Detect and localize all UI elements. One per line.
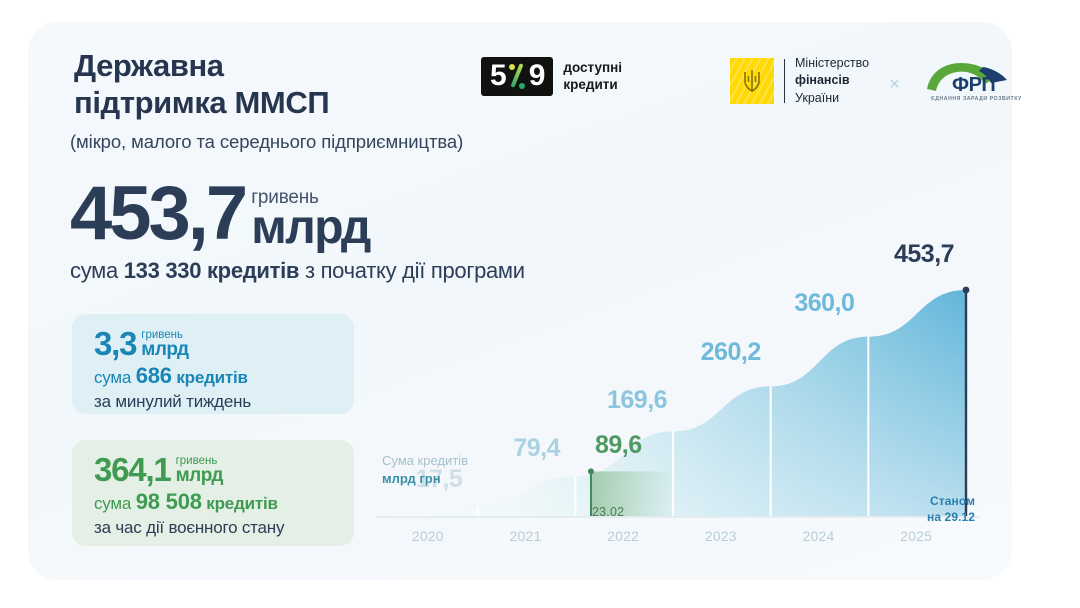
- stat-card-martial-law-unit-big: млрд: [176, 467, 223, 485]
- page-subtitle: (мікро, малого та середнього підприємниц…: [70, 131, 463, 153]
- stat-card-week-period: за минулий тиждень: [94, 392, 334, 412]
- chart-data-label-2022: 169,6: [607, 386, 667, 415]
- credit-growth-chart: 17,579,4169,6260,2360,0453,789,620202021…: [376, 268, 994, 556]
- as-of-line2: на 29.12: [927, 509, 975, 525]
- separator-cross-icon: ×: [889, 74, 900, 96]
- chart-x-label-2025: 2025: [900, 528, 932, 544]
- page-title: Державна підтримка ММСП: [74, 48, 329, 121]
- logo-579-digit-left: 5: [490, 61, 506, 91]
- chart-x-label-2022: 2022: [607, 528, 639, 544]
- minfin-line2: фінансів: [795, 72, 869, 89]
- page-title-line1: Державна: [74, 48, 329, 85]
- as-of-annotation: Станом на 29.12: [927, 493, 975, 525]
- hero-figure: 453,7 гривень млрд: [70, 183, 370, 245]
- stat-card-week-sum-count: 686: [136, 363, 172, 388]
- hero-value: 453,7: [70, 183, 245, 245]
- stat-card-martial-law-sum-suffix: кредитів: [202, 494, 278, 513]
- stat-card-martial-law-sum-prefix: сума: [94, 494, 136, 513]
- chart-data-label-war-start: 89,6: [595, 431, 642, 460]
- hero-unit: гривень млрд: [251, 188, 370, 247]
- chart-legend: Сума кредитів млрд грн: [382, 452, 468, 487]
- logo-579-digit-right: 9: [529, 61, 545, 91]
- minfin-line1: Міністерство: [795, 55, 869, 72]
- stat-card-week-unit: гривень млрд: [141, 329, 188, 359]
- chart-x-label-2024: 2024: [803, 528, 835, 544]
- chart-data-label-2025: 453,7: [894, 240, 954, 269]
- minfin-divider: [784, 59, 785, 103]
- chart-data-label-2021: 79,4: [513, 434, 560, 463]
- stat-card-martial-law-period: за час дії воєнного стану: [94, 518, 334, 538]
- chart-x-label-2021: 2021: [510, 528, 542, 544]
- minfin-line3: України: [795, 90, 869, 107]
- stat-card-week-unit-big: млрд: [141, 341, 188, 359]
- as-of-line1: Станом: [927, 493, 975, 509]
- stat-card-week: 3,3 гривень млрд сума 686 кредитів за ми…: [72, 314, 354, 414]
- logo-579-caption-line2: кредити: [563, 77, 622, 93]
- percent-icon: [508, 61, 527, 91]
- hero-summary-prefix: сума: [70, 258, 124, 283]
- stat-card-martial-law-sum: сума 98 508 кредитів: [94, 489, 334, 515]
- stat-card-martial-law-unit: гривень млрд: [176, 455, 223, 485]
- svg-text:ЄДНАННЯ ЗАРАДИ РОЗВИТКУ: ЄДНАННЯ ЗАРАДИ РОЗВИТКУ: [931, 96, 1022, 102]
- stat-card-martial-law-sum-count: 98 508: [136, 489, 202, 514]
- chart-legend-line1: Сума кредитів: [382, 452, 468, 470]
- stat-card-week-value: 3,3: [94, 330, 136, 358]
- svg-text:ФРП: ФРП: [952, 74, 995, 96]
- logo-minfin: Міністерство фінансів України: [730, 55, 869, 107]
- logo-frp: ФРП ЄДНАННЯ ЗАРАДИ РОЗВИТКУ: [925, 58, 1025, 102]
- stat-card-martial-law: 364,1 гривень млрд сума 98 508 кредитів …: [72, 440, 354, 546]
- minfin-text: Міністерство фінансів України: [795, 55, 869, 107]
- page-title-line2: підтримка ММСП: [74, 85, 329, 122]
- logo-579-caption: доступні кредити: [563, 60, 622, 92]
- chart-x-label-2023: 2023: [705, 528, 737, 544]
- logo-579: 5 9 доступні кредити: [481, 57, 622, 96]
- chart-data-label-2024: 360,0: [794, 289, 854, 318]
- hero-summary-count: 133 330 кредитів: [124, 258, 299, 283]
- infographic-root: Державна підтримка ММСП (мікро, малого т…: [0, 0, 1080, 608]
- hero-unit-big: млрд: [251, 208, 370, 247]
- stat-card-martial-law-value: 364,1: [94, 456, 171, 484]
- stat-card-martial-law-row1: 364,1 гривень млрд: [94, 454, 334, 484]
- stat-card-week-sum-prefix: сума: [94, 368, 136, 387]
- logo-579-box: 5 9: [481, 57, 553, 96]
- war-start-annotation: 23.02: [592, 505, 624, 519]
- chart-x-label-2020: 2020: [412, 528, 444, 544]
- stat-card-week-sum-suffix: кредитів: [172, 368, 248, 387]
- stat-card-week-sum: сума 686 кредитів: [94, 363, 334, 389]
- logo-579-caption-line1: доступні: [563, 60, 622, 76]
- chart-data-label-2023: 260,2: [701, 338, 761, 367]
- stat-card-week-row1: 3,3 гривень млрд: [94, 328, 334, 358]
- chart-legend-line2: млрд грн: [382, 470, 468, 488]
- ukraine-trident-icon: [730, 58, 774, 104]
